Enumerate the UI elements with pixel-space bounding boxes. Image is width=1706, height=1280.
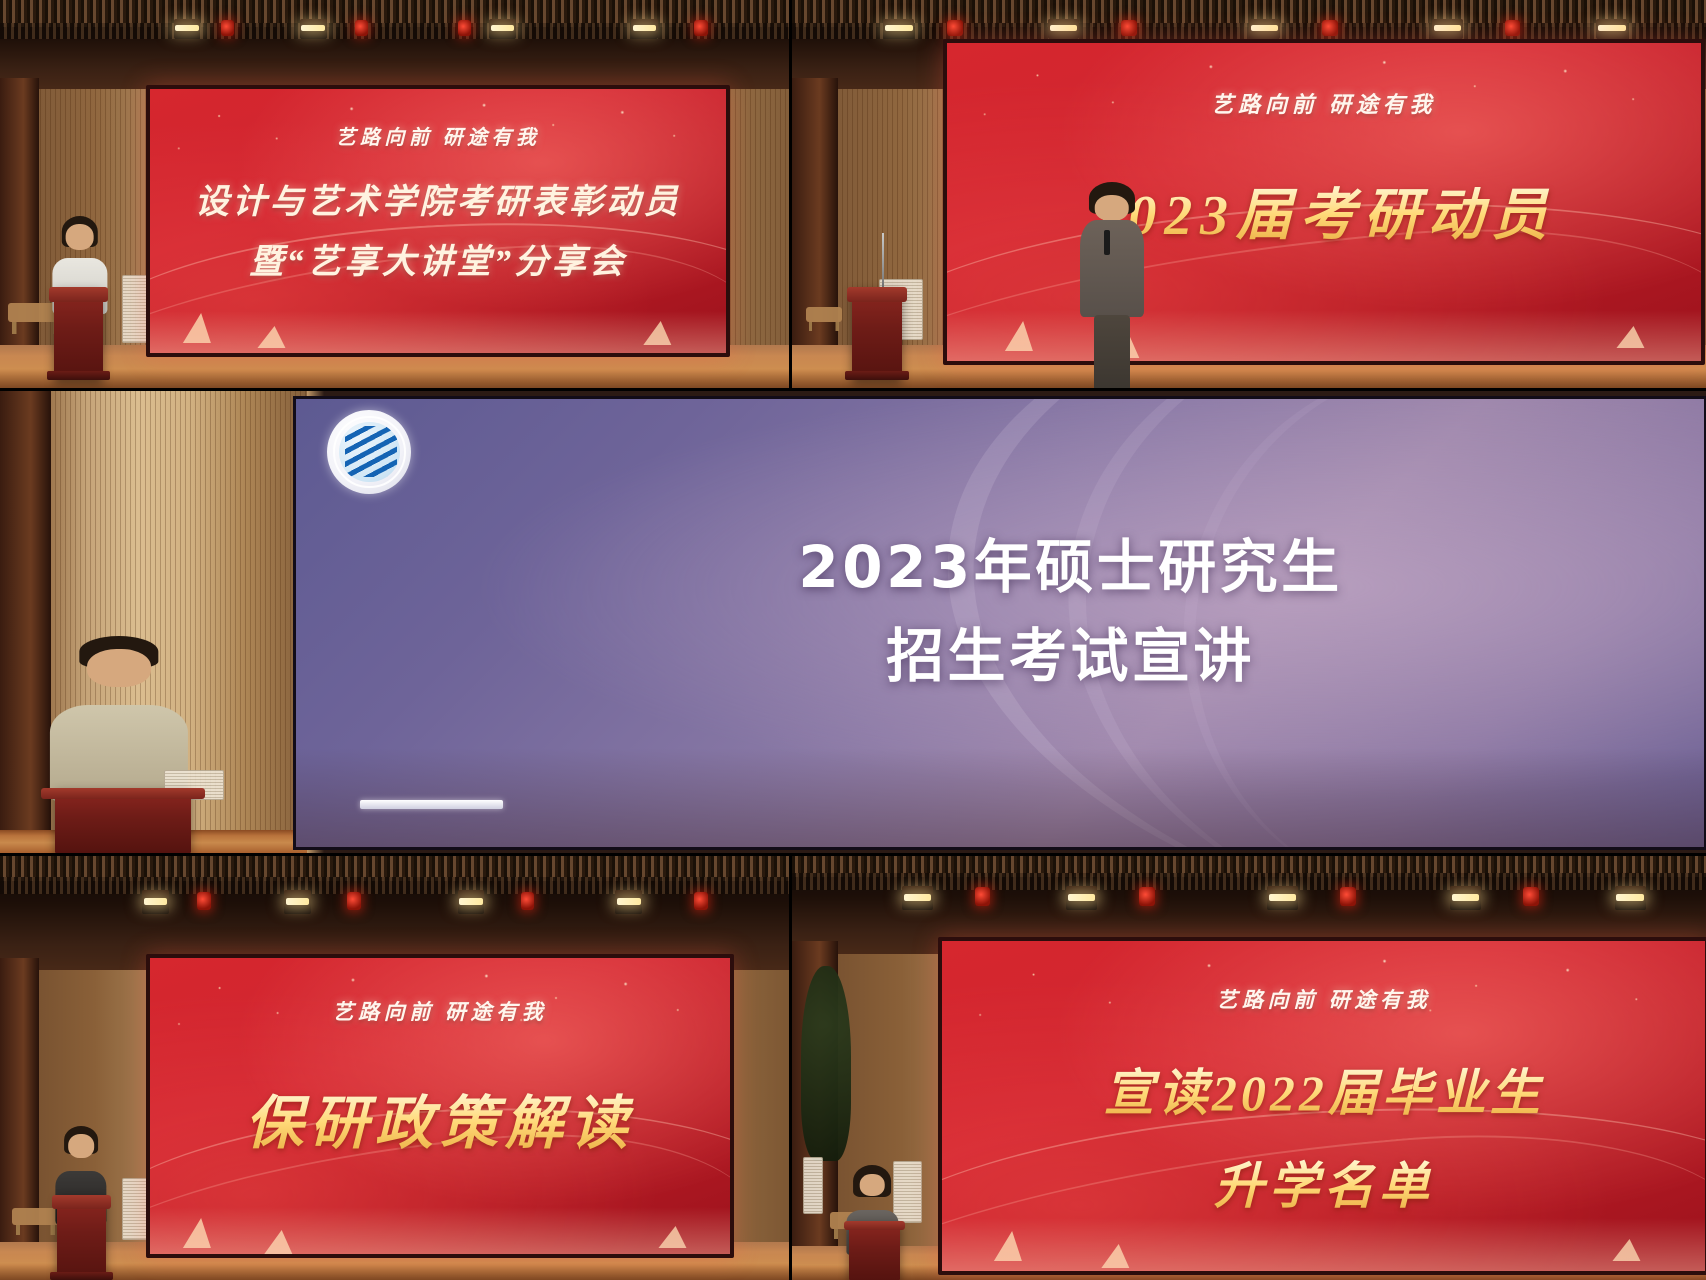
stage-lamp-red <box>1322 20 1338 36</box>
stage-lamp <box>458 890 485 914</box>
led-screen: 艺路向前 研途有我 宣读2022届毕业生 升学名单 <box>938 937 1706 1276</box>
podium-top <box>41 788 205 798</box>
stage-lamp <box>631 19 658 39</box>
stage-lamp-red <box>694 20 707 36</box>
stage-lamp <box>1048 19 1079 39</box>
microphone-stand <box>882 233 884 295</box>
podium-base <box>845 371 908 380</box>
slide-headline-1: 2023届考研动员 <box>947 170 1701 251</box>
podium-top <box>52 1195 111 1209</box>
speaker-legs <box>1094 315 1130 388</box>
wall-vent <box>803 1157 823 1214</box>
stage-lamp <box>1267 886 1298 910</box>
speaker-head <box>87 649 151 687</box>
stage-lamp <box>1249 19 1280 39</box>
led-screen: 艺路向前 研途有我 设计与艺术学院考研表彰动员 暨“艺享大讲堂”分享会 <box>146 85 730 357</box>
slide-tagline: 艺路向前 研途有我 <box>150 996 730 1026</box>
stage-lamp <box>142 890 169 914</box>
speaker-head <box>65 224 94 250</box>
stage-lamp <box>1615 886 1646 910</box>
stage-light-rig <box>0 12 789 51</box>
slide-tagline: 艺路向前 研途有我 <box>150 121 726 150</box>
stage-lamp-red <box>1523 887 1539 906</box>
microphone-icon <box>1104 230 1110 254</box>
stage-lamp <box>1432 19 1463 39</box>
stage-lamp-red <box>947 20 963 36</box>
stage-lamp-red <box>347 892 360 911</box>
emblem-ring <box>333 416 405 488</box>
podium <box>54 287 104 380</box>
stage-lamp <box>489 19 516 39</box>
projector-progress-bar[interactable] <box>360 800 504 809</box>
chair-legs <box>16 1225 56 1235</box>
chair-legs <box>12 322 58 334</box>
chair-legs <box>809 322 840 331</box>
stage-lamp <box>902 886 933 910</box>
slide-headline-2: 升学名单 <box>942 1146 1705 1218</box>
podium-top <box>844 1221 905 1230</box>
screen-bottom-glow <box>150 1207 730 1254</box>
stage-lamp-red <box>458 20 471 36</box>
projector-screen: 2023年硕士研究生 招生考试宣讲 <box>293 396 1706 850</box>
speaker-with-microphone <box>1080 194 1144 388</box>
stage-lamp-red <box>1121 20 1137 36</box>
stage-lamp-red <box>1505 20 1521 36</box>
podium-base <box>47 371 111 380</box>
stage-light-rig <box>0 881 789 928</box>
stage-lamp <box>1596 19 1627 39</box>
panel-bottom-left: 艺路向前 研途有我 保研政策解读 <box>0 856 789 1280</box>
podium <box>57 1195 106 1280</box>
screen-bottom-shade <box>296 748 1703 847</box>
panel-divider-horizontal <box>0 853 1706 856</box>
podium <box>849 1221 900 1280</box>
stage-light-rig <box>792 877 1706 924</box>
screen-bottom-glow <box>150 311 726 353</box>
stage-lamp <box>1066 886 1097 910</box>
stage-lamp <box>615 890 642 914</box>
university-emblem-icon <box>327 410 411 494</box>
speaker-head <box>860 1174 885 1196</box>
panel-divider-horizontal <box>0 388 1706 391</box>
podium <box>55 788 191 853</box>
panel-bottom-right: 艺路向前 研途有我 宣读2022届毕业生 升学名单 <box>792 856 1706 1280</box>
chair <box>806 307 843 323</box>
panel-middle: 2023年硕士研究生 招生考试宣讲 <box>0 391 1706 853</box>
podium <box>852 287 901 380</box>
stage-lamp-red <box>694 892 707 911</box>
panel-top-left: 艺路向前 研途有我 设计与艺术学院考研表彰动员 暨“艺享大讲堂”分享会 <box>0 0 789 388</box>
led-screen: 艺路向前 研途有我 2023届考研动员 <box>943 39 1705 365</box>
speaker-head <box>1095 195 1130 221</box>
speaker-head <box>68 1134 94 1158</box>
screen-bottom-glow <box>942 1218 1705 1271</box>
panel-divider-vertical <box>789 856 792 1280</box>
podium-top <box>49 287 109 302</box>
stage-lamp-red <box>221 20 234 36</box>
photo-collage: 艺路向前 研途有我 设计与艺术学院考研表彰动员 暨“艺享大讲堂”分享会 <box>0 0 1706 1280</box>
panel-top-right: 艺路向前 研途有我 2023届考研动员 <box>792 0 1706 388</box>
stage-lamp <box>174 19 201 39</box>
stage-lamp-red <box>1139 887 1155 906</box>
panel-divider-vertical <box>789 0 792 388</box>
led-screen: 艺路向前 研途有我 保研政策解读 <box>146 954 734 1259</box>
stage-lamp <box>883 19 914 39</box>
side-curtain-left <box>0 391 51 853</box>
podium-top <box>847 287 906 302</box>
stage-lamp <box>284 890 311 914</box>
slide-headline-1: 设计与艺术学院考研表彰动员 <box>150 174 726 223</box>
slide-tagline: 艺路向前 研途有我 <box>942 984 1705 1014</box>
stage-lamp-red <box>355 20 368 36</box>
podium-base <box>50 1272 113 1280</box>
stage-lamp-red <box>1340 887 1356 906</box>
slide-headline-1: 宣读2022届毕业生 <box>942 1053 1705 1125</box>
stage-lamp <box>1450 886 1481 910</box>
slide-headline-2: 暨“艺享大讲堂”分享会 <box>150 234 726 283</box>
stage-lamp-red <box>521 892 534 911</box>
slide-headline-1: 2023年硕士研究生 <box>493 520 1647 604</box>
side-curtain-left <box>0 958 39 1246</box>
slide-tagline: 艺路向前 研途有我 <box>947 87 1701 119</box>
chair <box>12 1208 59 1225</box>
slide-headline-2: 招生考试宣讲 <box>493 609 1647 693</box>
decorative-plant <box>801 966 851 1161</box>
stage-lamp-red <box>975 887 991 906</box>
stage-lamp-red <box>197 892 210 911</box>
stage-lamp <box>300 19 327 39</box>
screen-bottom-glow <box>947 310 1701 361</box>
slide-headline-1: 保研政策解读 <box>150 1076 730 1160</box>
speaker-torso <box>1080 220 1144 317</box>
